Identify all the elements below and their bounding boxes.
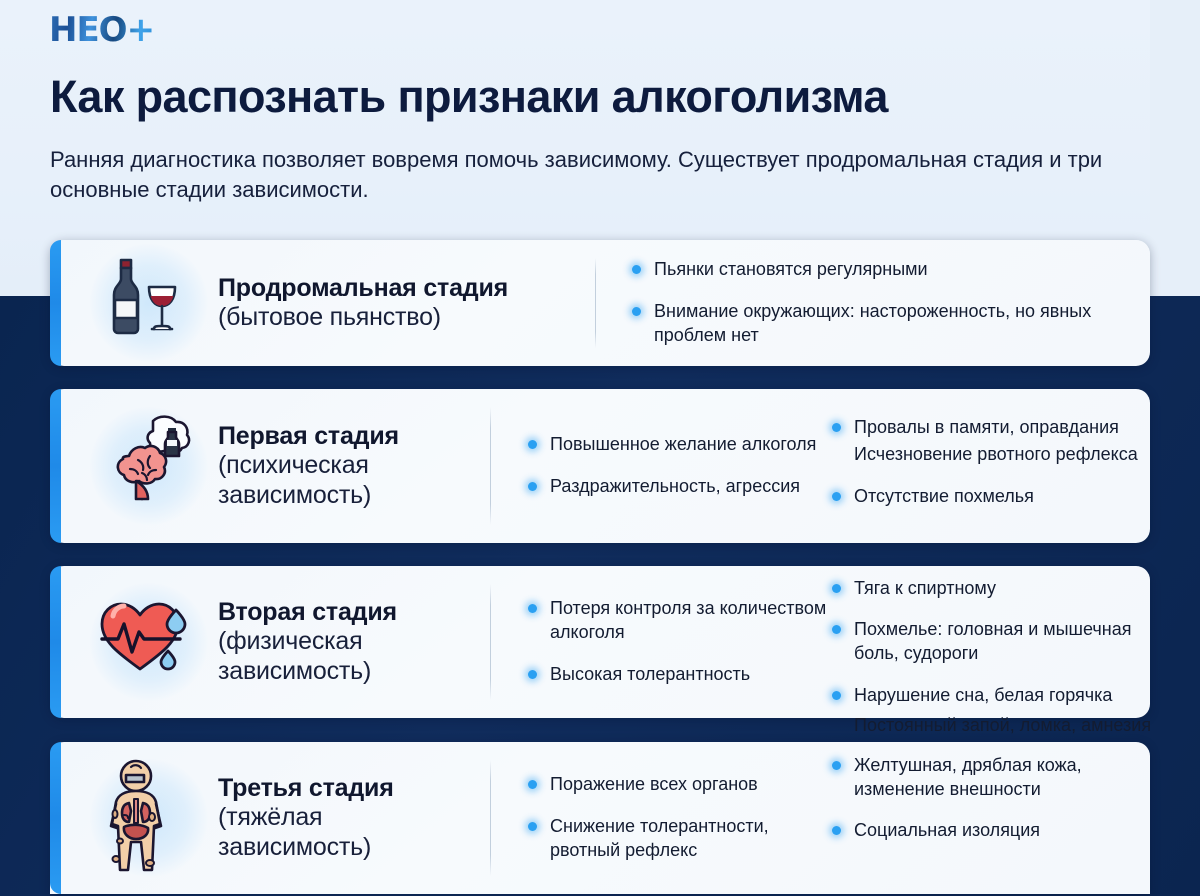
- list-item-text: Повышенное желание алкоголя: [550, 434, 816, 454]
- bullet-dot-icon: [632, 265, 641, 274]
- list-item-text: Пьянки становятся регулярными: [654, 259, 928, 279]
- stage-card-first: Первая стадия (психическая зависимость) …: [50, 389, 1150, 543]
- symptom-column-b: Постоянный запой, ломка, амнезия Желтушн…: [832, 742, 1152, 894]
- card-icon-cell: [84, 742, 214, 894]
- symptom-column-b: Провалы в памяти, оправдания Исчезновени…: [832, 389, 1152, 543]
- bullet-dot-icon: [832, 492, 841, 501]
- list-item-overflow: Постоянный запой, ломка, амнезия: [832, 714, 1152, 738]
- list-item-text: Провалы в памяти, оправдания: [854, 417, 1119, 437]
- list-item: Высокая толерантность: [528, 663, 828, 687]
- symptom-column-a: Поражение всех органов Снижение толерант…: [528, 742, 828, 894]
- card-heading: Третья стадия (тяжёлая зависимость): [218, 742, 473, 894]
- stage-name: Первая стадия: [218, 422, 473, 451]
- stage-subtitle: (психическая зависимость): [218, 450, 473, 510]
- card-heading: Вторая стадия (физическая зависимость): [218, 566, 473, 718]
- bullet-dot-icon: [832, 691, 841, 700]
- list-item-text: Постоянный запой, ломка, амнезия: [854, 715, 1151, 735]
- bullet-dot-icon: [832, 584, 841, 593]
- wine-bottle-and-glass-icon: [90, 244, 208, 362]
- symptom-column-a: Потеря контроля за количеством алкоголя …: [528, 566, 828, 718]
- bullet-dot-icon: [528, 604, 537, 613]
- stage-subtitle: (бытовое пьянство): [218, 302, 538, 332]
- list-item: Нарушение сна, белая горячка: [832, 684, 1152, 708]
- card-accent-stripe: [50, 389, 61, 543]
- stage-name: Третья стадия: [218, 774, 473, 803]
- list-item-text: Отсутствие похмелья: [854, 486, 1034, 506]
- list-item: Повышенное желание алкоголя: [528, 433, 828, 457]
- list-item-continuation: Исчезновение рвотного рефлекса: [832, 443, 1152, 467]
- bullet-dot-icon: [632, 307, 641, 316]
- page-subtitle: Ранняя диагностика позволяет вовремя пом…: [50, 145, 1110, 206]
- card-accent-stripe: [50, 742, 61, 894]
- list-item: Отсутствие похмелья: [832, 485, 1152, 509]
- card-heading: Продромальная стадия (бытовое пьянство): [218, 240, 538, 366]
- card-divider: [490, 584, 491, 700]
- list-item: Провалы в памяти, оправдания: [832, 416, 1152, 440]
- page-title: Как распознать признаки алкоголизма: [50, 73, 1170, 120]
- card-divider: [490, 407, 491, 525]
- brand-logo: HEO+: [49, 13, 154, 47]
- list-item: Поражение всех органов: [528, 773, 828, 797]
- list-item-text: Похмелье: головная и мышечная боль, судо…: [854, 619, 1132, 663]
- list-item: Внимание окружающих: настороженность, но…: [632, 300, 1152, 348]
- card-icon-cell: [84, 389, 214, 543]
- list-item: Снижение толерантности, рвотный рефлекс: [528, 815, 828, 863]
- stage-subtitle: (физическая зависимость): [218, 626, 473, 686]
- bullet-dot-icon: [528, 780, 537, 789]
- list-item-text: Раздражительность, агрессия: [550, 476, 800, 496]
- list-item-text: Исчезновение рвотного рефлекса: [854, 444, 1138, 464]
- human-body-organs-icon: [90, 759, 208, 877]
- bullet-dot-icon: [832, 761, 841, 770]
- list-item-text: Высокая толерантность: [550, 664, 750, 684]
- list-item: Похмелье: головная и мышечная боль, судо…: [832, 618, 1152, 666]
- list-item-text: Желтушная, дряблая кожа, изменение внешн…: [854, 755, 1082, 799]
- list-item-text: Социальная изоляция: [854, 820, 1040, 840]
- card-accent-stripe: [50, 240, 61, 366]
- list-item: Желтушная, дряблая кожа, изменение внешн…: [832, 754, 1152, 802]
- bullet-dot-icon: [528, 822, 537, 831]
- bullet-dot-icon: [832, 423, 841, 432]
- list-item-text: Снижение толерантности, рвотный рефлекс: [550, 816, 769, 860]
- list-item: Потеря контроля за количеством алкоголя: [528, 597, 828, 645]
- card-icon-cell: [84, 240, 214, 366]
- stage-name: Вторая стадия: [218, 598, 473, 627]
- list-item: Социальная изоляция: [832, 819, 1152, 843]
- card-heading: Первая стадия (психическая зависимость): [218, 389, 473, 543]
- bullet-dot-icon: [528, 670, 537, 679]
- list-item: Пьянки становятся регулярными: [632, 258, 1152, 282]
- list-item: Раздражительность, агрессия: [528, 475, 828, 499]
- card-divider: [490, 760, 491, 876]
- stage-card-second: Вторая стадия (физическая зависимость) П…: [50, 566, 1150, 718]
- light-background-right-edge: [1150, 0, 1200, 296]
- stage-card-third: Третья стадия (тяжёлая зависимость) Пора…: [50, 742, 1150, 894]
- bullet-dot-icon: [832, 826, 841, 835]
- card-divider: [595, 258, 596, 348]
- list-item-text: Нарушение сна, белая горячка: [854, 685, 1112, 705]
- list-item-text: Поражение всех органов: [550, 774, 758, 794]
- symptom-column-a: Повышенное желание алкоголя Раздражитель…: [528, 389, 828, 543]
- bullet-dot-icon: [832, 625, 841, 634]
- heart-with-pulse-icon: [90, 583, 208, 701]
- symptom-column-b: Тяга к спиртному Похмелье: головная и мы…: [832, 566, 1152, 718]
- brain-with-bottle-thought-icon: [90, 407, 208, 525]
- bullet-dot-icon: [528, 440, 537, 449]
- list-item-text: Потеря контроля за количеством алкоголя: [550, 598, 826, 642]
- bullet-dot-icon: [528, 482, 537, 491]
- symptom-column-a: Пьянки становятся регулярными Внимание о…: [632, 240, 1152, 366]
- card-accent-stripe: [50, 566, 61, 718]
- list-item-text: Внимание окружающих: настороженность, но…: [654, 301, 1091, 345]
- list-item-text: Тяга к спиртному: [854, 578, 996, 598]
- list-item: Тяга к спиртному: [832, 577, 1152, 601]
- stage-subtitle: (тяжёлая зависимость): [218, 802, 473, 862]
- stage-name: Продромальная стадия: [218, 274, 538, 303]
- card-icon-cell: [84, 566, 214, 718]
- stage-card-prodromal: Продромальная стадия (бытовое пьянство) …: [50, 240, 1150, 366]
